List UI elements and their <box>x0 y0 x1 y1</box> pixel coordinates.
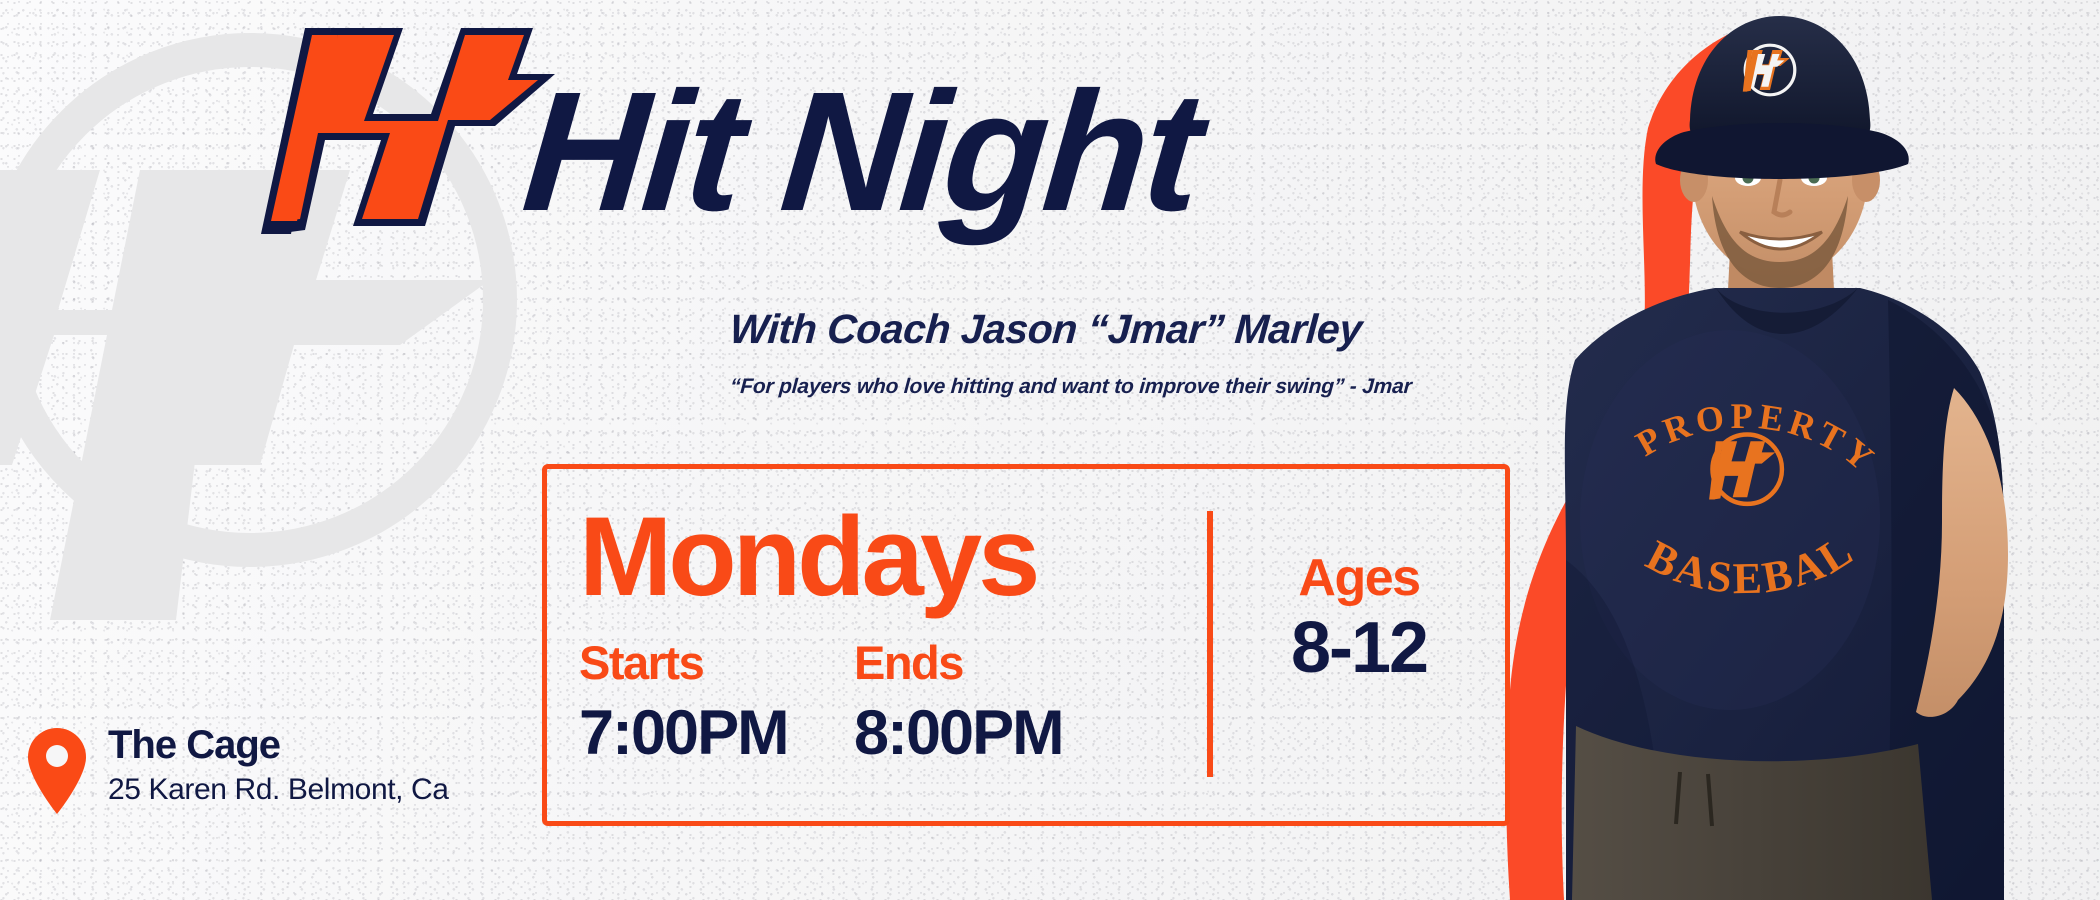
time-grid: Starts 7:00PM Ends 8:00PM <box>579 639 1207 765</box>
venue-address: 25 Karen Rd. Belmont, Ca <box>108 772 449 808</box>
location-text: The Cage 25 Karen Rd. Belmont, Ca <box>108 724 449 808</box>
start-time-label: Starts <box>579 639 854 686</box>
headline-row: Hit Night <box>255 22 1197 237</box>
end-time-block: Ends 8:00PM <box>854 639 1114 765</box>
location-block: The Cage 25 Karen Rd. Belmont, Ca <box>28 724 449 814</box>
hit-night-promo-banner: Hit Night With Coach Jason “Jmar” Marley… <box>0 0 2100 900</box>
ages-value: 8-12 <box>1291 612 1427 684</box>
coach-subtitle: With Coach Jason “Jmar” Marley <box>728 306 1331 353</box>
event-day: Mondays <box>579 501 1207 613</box>
event-details-box: Mondays Starts 7:00PM Ends 8:00PM Ages 8… <box>542 464 1510 826</box>
venue-name: The Cage <box>108 724 449 766</box>
page-title: Hit Night <box>518 72 1204 234</box>
start-time-value: 7:00PM <box>579 702 854 765</box>
ages-column: Ages 8-12 <box>1213 469 1505 821</box>
coach-photo: PROPERTY OF BASEBALL <box>1480 0 2100 900</box>
baseball-cap <box>1655 16 1909 179</box>
ages-label: Ages <box>1298 552 1419 604</box>
schedule-column: Mondays Starts 7:00PM Ends 8:00PM <box>547 469 1207 821</box>
end-time-label: Ends <box>854 639 1114 686</box>
map-pin-icon <box>28 728 86 814</box>
coach-quote: “For players who love hitting and want t… <box>729 375 1331 399</box>
ht-bolt-logo-icon <box>255 22 555 237</box>
start-time-block: Starts 7:00PM <box>579 639 854 765</box>
end-time-value: 8:00PM <box>854 702 1114 765</box>
